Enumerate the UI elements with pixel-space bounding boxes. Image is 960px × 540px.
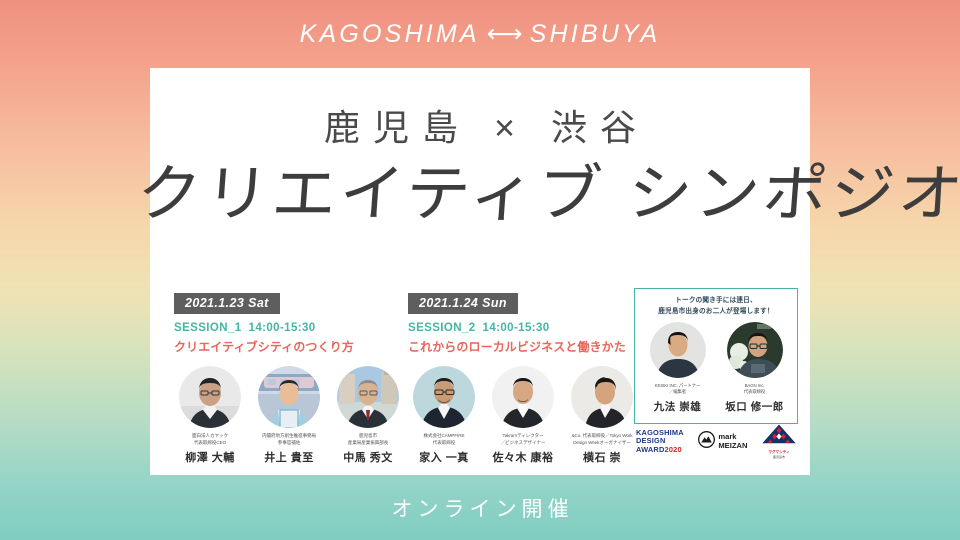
session-1-time: 14:00-15:30 [249, 322, 316, 334]
speaker-name: 佐々木 康裕 [487, 449, 559, 465]
session-1-date-badge: 2021.1.23 Sat [174, 293, 280, 314]
meizan-mountain-icon [698, 431, 715, 453]
speaker-affiliation: 面白法人カヤック代表取締役CEO [174, 433, 246, 446]
host-panel: トークの聞き手には連日、 鹿児島市出身のお二人が登場します！ KESIKI [634, 288, 798, 424]
double-arrow-icon: ⟷ [487, 22, 523, 47]
speaker-name: 柳澤 大輔 [174, 449, 246, 465]
session-1-subtitle: クリエイティブシティのつくり方 [174, 338, 408, 355]
magma-city-logo: マグマシティ 鹿児島市 [762, 424, 796, 459]
host-heading-line2: 鹿児島市出身のお二人が登場します！ [641, 307, 791, 318]
host-card: KESIKI INC. パートナー／編集者 九法 崇雄 [645, 322, 711, 414]
avatar [179, 366, 241, 428]
session-2-date-badge: 2021.1.24 Sun [408, 293, 518, 314]
header-banner: KAGOSHIMA ⟷ SHIBUYA [0, 0, 960, 68]
avatar [337, 366, 399, 428]
speaker-affiliation: 鹿児島市産業局産業振興部長 [332, 433, 404, 446]
avatar [727, 322, 783, 378]
kda-year: 2020 [665, 445, 682, 454]
speaker-name: 中馬 秀文 [332, 449, 404, 465]
avatar [492, 366, 554, 428]
host-affiliation: BAGN Inc.代表取締役 [722, 383, 788, 396]
speaker-card: 株式会社CAMPFIRE代表取締役 家入 一真 [408, 366, 480, 465]
host-affiliation: KESIKI INC. パートナー／編集者 [645, 383, 711, 396]
logotype-line1: クリエイティブ [134, 157, 607, 230]
session-1-label-row: SESSION_114:00-15:30 [174, 322, 408, 334]
host-list: KESIKI INC. パートナー／編集者 九法 崇雄 [641, 322, 791, 414]
session-2-time: 14:00-15:30 [483, 322, 550, 334]
online-event-label: オンライン開催 [387, 493, 574, 523]
footer-banner: オンライン開催 [0, 475, 960, 540]
speaker-affiliation: 株式会社CAMPFIRE代表取締役 [408, 433, 480, 446]
speaker-affiliation: 内閣府地方創生推進事務局参事官補佐 [253, 433, 325, 446]
speaker-name: 横石 崇 [566, 449, 638, 465]
avatar [571, 366, 633, 428]
event-logotype: クリエイティブシンポジオン [135, 163, 826, 225]
kv-title: KAGOSHIMA ⟷ SHIBUYA [300, 20, 661, 49]
kagoshima-design-award-logo: KAGOSHIMA DESIGN AWARD2020 [636, 429, 684, 454]
host-panel-heading: トークの聞き手には連日、 鹿児島市出身のお二人が登場します！ [641, 296, 791, 317]
speaker-card: &Co. 代表取締役／Tokyo WorkDesign Weekオーガナイザー … [566, 366, 638, 465]
session-block-2: 2021.1.24 Sun SESSION_214:00-15:30 これからの… [408, 293, 648, 465]
speaker-name: 井上 貴至 [253, 449, 325, 465]
page-title: 鹿児島 × 渋谷 [150, 99, 810, 151]
kda-line3: AWARD [636, 445, 665, 454]
session-2-speakers: 株式会社CAMPFIRE代表取締役 家入 一真 [408, 366, 648, 465]
session-2-subtitle: これからのローカルビジネスと働きかた [408, 338, 648, 355]
speaker-card: 面白法人カヤック代表取締役CEO 柳澤 大輔 [174, 366, 246, 465]
session-1-speakers: 面白法人カヤック代表取締役CEO 柳澤 大輔 [174, 366, 408, 465]
speaker-card: 鹿児島市産業局産業振興部長 中馬 秀文 [332, 366, 404, 465]
host-card: BAGN Inc.代表取締役 坂口 修一郎 [722, 322, 788, 414]
magma-sub2: 鹿児島市 [762, 455, 796, 459]
session-2-label-row: SESSION_214:00-15:30 [408, 322, 648, 334]
mark-meizan-logo: mark MEIZAN [698, 431, 747, 453]
avatar [413, 366, 475, 428]
host-heading-line1: トークの聞き手には連日、 [641, 296, 791, 307]
speaker-name: 家入 一真 [408, 449, 480, 465]
host-name: 坂口 修一郎 [722, 399, 788, 414]
kv-title-left: KAGOSHIMA [300, 20, 480, 49]
logotype-line2: シンポジオン [625, 157, 960, 230]
meizan-wordmark: mark MEIZAN [718, 433, 747, 450]
main-card: 鹿児島 × 渋谷 クリエイティブシンポジオン 2021.1.23 Sat SES… [150, 68, 810, 475]
avatar [258, 366, 320, 428]
speaker-affiliation: Takramディレクター／ビジネスデザイナー [487, 433, 559, 446]
session-1-label: SESSION_1 [174, 322, 242, 334]
speaker-card: Takramディレクター／ビジネスデザイナー 佐々木 康裕 [487, 366, 559, 465]
kv-title-right: SHIBUYA [530, 20, 661, 49]
speaker-card: 内閣府地方創生推進事務局参事官補佐 井上 貴至 [253, 366, 325, 465]
session-block-1: 2021.1.23 Sat SESSION_114:00-15:30 クリエイテ… [174, 293, 408, 465]
meizan-line2: MEIZAN [718, 442, 747, 451]
sponsor-logos: KAGOSHIMA DESIGN AWARD2020 mark MEIZAN [636, 424, 796, 459]
session-2-label: SESSION_2 [408, 322, 476, 334]
magma-mountain-icon [762, 431, 796, 448]
host-name: 九法 崇雄 [645, 399, 711, 414]
speaker-affiliation: &Co. 代表取締役／Tokyo WorkDesign Weekオーガナイザー [566, 433, 638, 446]
avatar [650, 322, 706, 378]
